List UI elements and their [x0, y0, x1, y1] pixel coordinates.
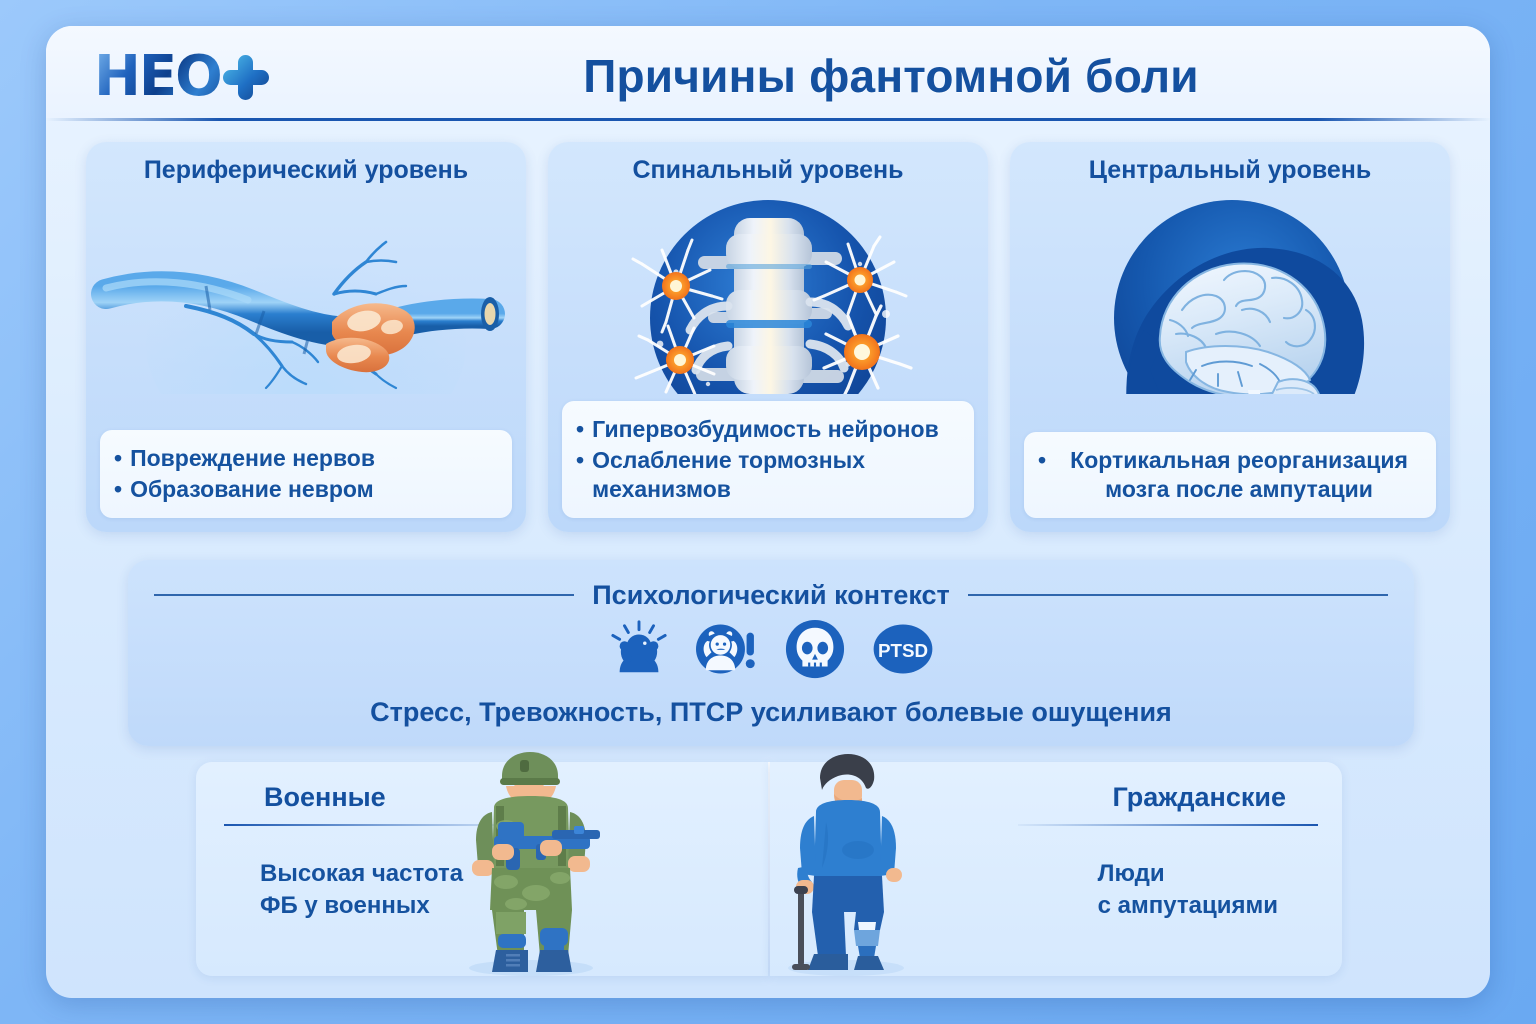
ptsd-badge-label: PTSD [878, 640, 928, 661]
brand-logo-text: НЕО [94, 49, 221, 105]
list-item-label: Образование невром [130, 475, 374, 504]
card-bullet-list: • Кортикальная реорганизация мозга после… [1024, 432, 1436, 518]
skull-icon [784, 618, 846, 680]
levels-card-row: Периферический уровень [86, 142, 1450, 532]
list-item: • Гипервозбудимость нейронов [576, 415, 962, 444]
header-bar: НЕО Причины фантомной боли [46, 26, 1490, 118]
civilian-with-cane-and-prosthetic-leg [758, 750, 928, 976]
header-rule-left [154, 594, 574, 596]
infographic-poster: НЕО Причины фантомной боли Периферически… [0, 0, 1536, 1024]
card-title: Спинальный уровень [548, 156, 988, 185]
list-item: • Повреждение нервов [114, 444, 500, 473]
card-bullet-list: • Повреждение нервов • Образование невро… [100, 430, 512, 518]
card-central-level[interactable]: Центральный уровень [1010, 142, 1450, 532]
list-item-label: Кортикальная реорганизация мозга после а… [1054, 446, 1424, 504]
psychological-context-caption: Стресс, Тревожность, ПТСР усиливают боле… [128, 697, 1414, 728]
comparison-civilian[interactable]: Гражданские Люди с ампутациями [770, 762, 1342, 976]
psychological-context-header: Психологический контекст [128, 578, 1414, 612]
damaged-nerve-with-neuroma-illustration [86, 194, 526, 394]
psychological-icon-row: PTSD [128, 618, 1414, 680]
header-divider [46, 118, 1490, 121]
psychological-context-panel: Психологический контекст [128, 560, 1414, 746]
list-item: • Кортикальная реорганизация мозга после… [1038, 446, 1424, 504]
brand-logo: НЕО [94, 46, 334, 108]
comparison-military[interactable]: Военные Высокая частота ФБ у военных [196, 762, 768, 976]
stressed-person-icon [608, 618, 670, 680]
comparison-label: Военные [264, 782, 386, 813]
card-bullet-list: • Гипервозбудимость нейронов • Ослаблени… [562, 401, 974, 518]
description-line: ФБ у военных [260, 890, 463, 922]
card-peripheral-level[interactable]: Периферический уровень [86, 142, 526, 532]
comparison-label: Гражданские [1112, 782, 1286, 813]
description-line: с ампутациями [1098, 890, 1278, 922]
spinal-cord-firing-neurons-illustration [548, 194, 988, 394]
bullet-marker: • [114, 444, 122, 473]
list-item: • Ослабление тормозных механизмов [576, 446, 962, 504]
list-item-label: Ослабление тормозных механизмов [592, 446, 962, 504]
bullet-marker: • [1038, 446, 1046, 475]
head-profile-with-brain-illustration [1010, 194, 1450, 394]
soldier-with-prosthetic-leg [436, 748, 626, 976]
anxious-person-exclamation-icon [696, 618, 758, 680]
list-item: • Образование невром [114, 475, 500, 504]
psychological-context-title: Психологический контекст [592, 580, 949, 611]
description-line: Высокая частота [260, 858, 463, 890]
comparison-description: Высокая частота ФБ у военных [260, 858, 463, 921]
card-title: Центральный уровень [1010, 156, 1450, 185]
ptsd-badge-icon: PTSD [872, 618, 934, 680]
header-rule-right [968, 594, 1388, 596]
bullet-marker: • [114, 475, 122, 504]
label-underline [1018, 824, 1318, 826]
page-title: Причины фантомной боли [346, 44, 1436, 108]
bullet-marker: • [576, 446, 584, 475]
population-comparison: Военные Высокая частота ФБ у военных [196, 762, 1342, 976]
description-line: Люди [1098, 858, 1278, 890]
plus-icon [223, 54, 269, 100]
poster-sheet: НЕО Причины фантомной боли Периферически… [46, 26, 1490, 998]
card-title: Периферический уровень [86, 156, 526, 185]
card-spinal-level[interactable]: Спинальный уровень [548, 142, 988, 532]
bullet-marker: • [576, 415, 584, 444]
comparison-description: Люди с ампутациями [1098, 858, 1278, 921]
list-item-label: Гипервозбудимость нейронов [592, 415, 939, 444]
list-item-label: Повреждение нервов [130, 444, 375, 473]
